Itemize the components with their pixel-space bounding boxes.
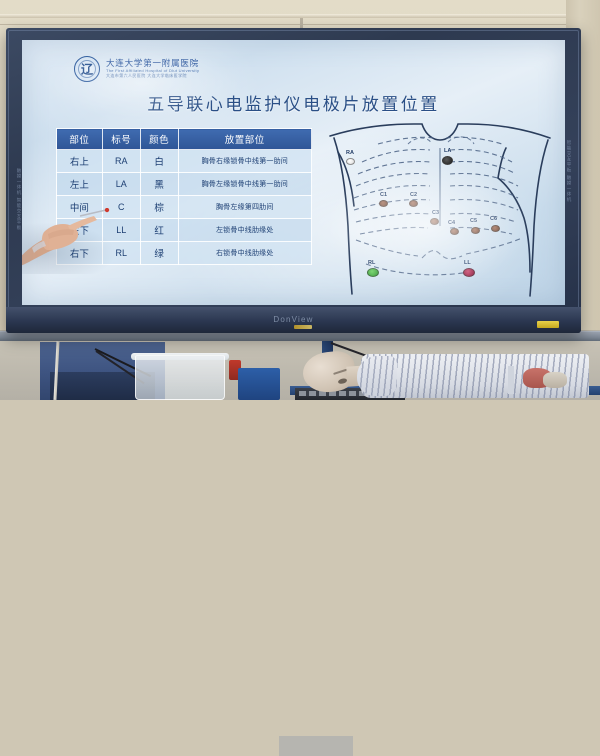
electrode-label-ra: RA bbox=[346, 150, 354, 156]
blue-supply-item bbox=[238, 368, 280, 400]
room-scene: 触摸一体机 智能交互平板 智能交互平板 触摸一体机 辽 大连大学第一附属医院 T… bbox=[0, 0, 600, 400]
electrode-label-c6: C6 bbox=[490, 216, 497, 222]
col-header-color: 颜色 bbox=[140, 129, 178, 150]
cell-mark: LA bbox=[102, 173, 140, 196]
cell-color: 黑 bbox=[140, 173, 178, 196]
hospital-seal-icon: 辽 bbox=[74, 56, 100, 82]
col-header-site: 部位 bbox=[57, 129, 103, 150]
mannequin-eye bbox=[338, 378, 348, 385]
seal-mark-glyph: 辽 bbox=[81, 61, 93, 78]
torso-diagram: RA LA C1 C2 C3 C4 C5 C6 RL LL bbox=[322, 122, 557, 302]
mannequin-shoulder bbox=[357, 356, 397, 396]
electrode-label-c3: C3 bbox=[432, 210, 439, 216]
table-header-row: 部位 标号 颜色 放置部位 bbox=[57, 129, 312, 150]
cell-color: 棕 bbox=[140, 196, 178, 219]
hospital-logo-text: 大连大学第一附属医院 The First Affiliated Hospital… bbox=[106, 60, 199, 79]
electrode-c2-brown[interactable] bbox=[409, 200, 418, 207]
col-header-mark: 标号 bbox=[102, 129, 140, 150]
cell-position: 胸骨右缘锁骨中线第一肋间 bbox=[178, 150, 311, 173]
electrode-la-black[interactable] bbox=[442, 156, 453, 165]
electrode-label-c5: C5 bbox=[470, 218, 477, 224]
electrode-c5-brown[interactable] bbox=[471, 227, 480, 234]
mannequin-brow bbox=[333, 369, 347, 375]
storage-bin-contents bbox=[279, 736, 353, 756]
electrode-label-rl: RL bbox=[368, 260, 375, 266]
cpr-training-mannequin bbox=[295, 340, 600, 400]
interactive-whiteboard[interactable]: 触摸一体机 智能交互平板 智能交互平板 触摸一体机 辽 大连大学第一附属医院 T… bbox=[6, 28, 581, 333]
table-row: 右上 RA 白 胸骨右缘锁骨中线第一肋间 bbox=[57, 150, 312, 173]
electrode-rl-green[interactable] bbox=[367, 268, 379, 277]
electrode-c4-brown[interactable] bbox=[450, 228, 459, 235]
table-row: 左上 LA 黑 胸骨左缘锁骨中线第一肋间 bbox=[57, 173, 312, 196]
bezel-side-text-right: 智能交互平板 触摸一体机 bbox=[566, 140, 572, 203]
electrode-c6-brown[interactable] bbox=[491, 225, 500, 232]
cell-color: 红 bbox=[140, 219, 178, 242]
hospital-name-sub: 大连市第六人民医院 大连大学临床医学院 bbox=[106, 74, 199, 79]
cell-color: 白 bbox=[140, 150, 178, 173]
cell-site: 左上 bbox=[57, 173, 103, 196]
hospital-logo: 辽 大连大学第一附属医院 The First Affiliated Hospit… bbox=[74, 56, 199, 82]
hand-shadow bbox=[22, 222, 116, 274]
certification-sticker bbox=[537, 321, 559, 328]
electrode-ll-red[interactable] bbox=[463, 268, 475, 277]
slide-title: 五导联心电监护仪电极片放置位置 bbox=[22, 90, 565, 115]
monitor-bottom-bezel: DonView bbox=[6, 307, 581, 333]
torso-outline-svg bbox=[322, 122, 557, 302]
brand-accent-bar bbox=[294, 325, 312, 329]
col-header-position: 放置部位 bbox=[178, 129, 311, 150]
electrode-label-c4: C4 bbox=[448, 220, 455, 226]
cell-position: 胸骨左缘第四肋间 bbox=[178, 196, 311, 219]
cell-position: 左锁骨中线肋缘处 bbox=[178, 219, 311, 242]
cell-position: 右锁骨中线肋缘处 bbox=[178, 242, 311, 265]
cell-site: 中间 bbox=[57, 196, 103, 219]
cell-site: 右上 bbox=[57, 150, 103, 173]
mannequin-cuff bbox=[508, 366, 514, 394]
slide-screen[interactable]: 辽 大连大学第一附属医院 The First Affiliated Hospit… bbox=[22, 40, 565, 305]
electrode-label-la: LA bbox=[444, 148, 451, 154]
electrode-label-ll: LL bbox=[464, 260, 471, 266]
cell-color: 绿 bbox=[140, 242, 178, 265]
cell-mark: RA bbox=[102, 150, 140, 173]
electrode-c3-brown[interactable] bbox=[430, 218, 439, 225]
table-row: 中间 C 棕 胸骨左缘第四肋间 bbox=[57, 196, 312, 219]
storage-bin bbox=[135, 355, 225, 400]
electrode-ra-white[interactable] bbox=[346, 158, 355, 165]
cell-position: 胸骨左缘锁骨中线第一肋间 bbox=[178, 173, 311, 196]
mannequin-hand-secondary bbox=[543, 372, 567, 388]
electrode-label-c1: C1 bbox=[380, 192, 387, 198]
monitor-brand-label: DonView bbox=[6, 315, 581, 324]
electrode-label-c2: C2 bbox=[410, 192, 417, 198]
electrode-c1-brown[interactable] bbox=[379, 200, 388, 207]
cell-mark: C bbox=[102, 196, 140, 219]
